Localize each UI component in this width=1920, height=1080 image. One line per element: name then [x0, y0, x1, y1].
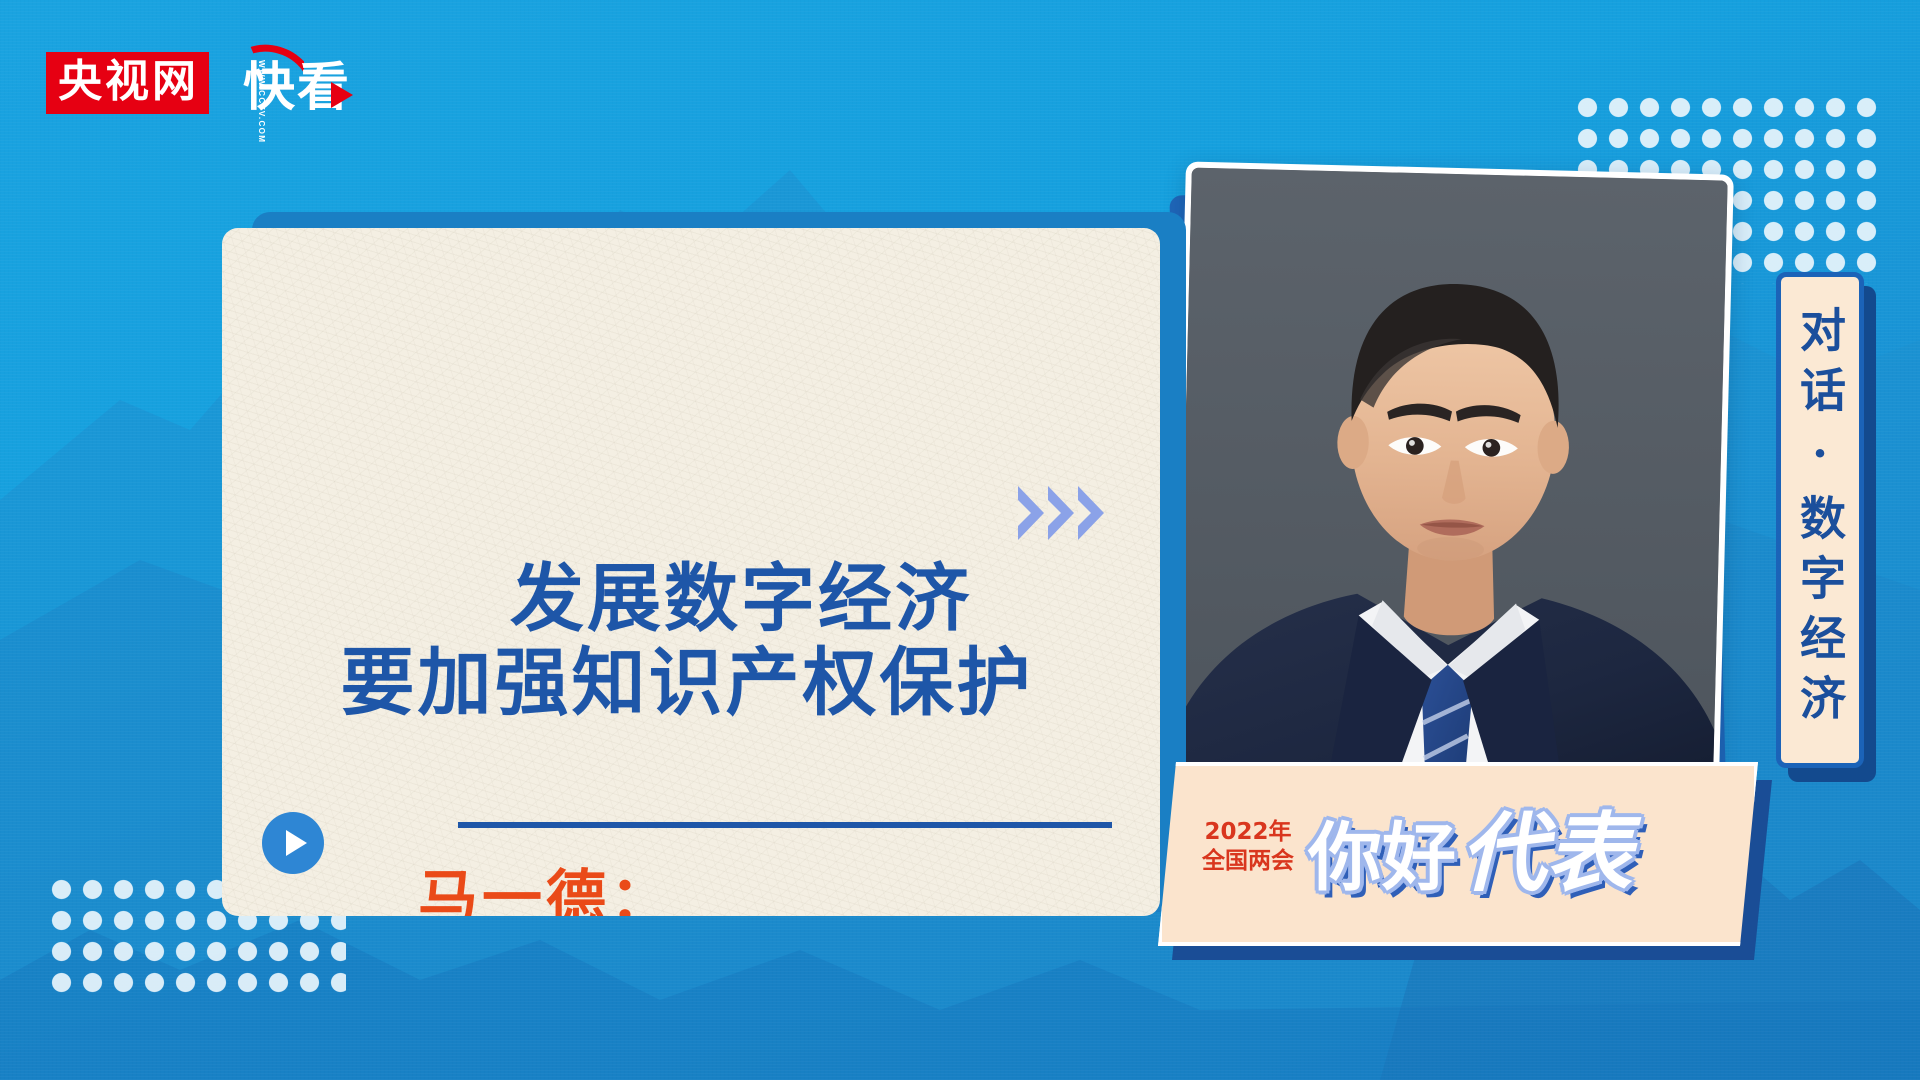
badge-event: 全国两会: [1202, 847, 1294, 876]
portrait-photo: [1176, 168, 1727, 817]
cctv-logo[interactable]: 央视网 WWW.CCTV.COM 快看: [46, 28, 351, 114]
headline: 发展数字经济 要加强知识产权保护: [222, 558, 1160, 725]
vertical-label: 对话·数字经济: [1776, 272, 1864, 768]
poster-canvas: 央视网 WWW.CCTV.COM 快看: [0, 0, 1920, 1080]
speaker-name: 马一德：: [222, 850, 1160, 916]
cctv-logo-text: 央视网: [58, 60, 199, 104]
cctv-logo-box: 央视网: [46, 52, 209, 114]
headline-divider: [458, 822, 1112, 828]
badge-title: 你好代表: [1308, 783, 1632, 926]
play-circle-icon[interactable]: [262, 812, 324, 874]
badge-event-info: 2022年 全国两会: [1202, 818, 1294, 891]
badge-title-part1: 你好: [1308, 815, 1456, 901]
portrait-frame: [1170, 161, 1734, 822]
double-chevron-right-icon: [1018, 486, 1104, 540]
kuaikan-wordmark: 快看: [243, 62, 351, 114]
badge-title-part2: 代表: [1460, 804, 1632, 904]
headline-card: 发展数字经济 要加强知识产权保护 马一德： 将进一步加强数据产权保护: [222, 228, 1160, 916]
badge-bubble: 2022年 全国两会 你好代表: [1158, 762, 1758, 946]
headline-line-1: 发展数字经济: [222, 558, 1152, 642]
headline-line-2: 要加强知识产权保护: [222, 642, 1152, 726]
badge-year: 2022年: [1202, 818, 1294, 847]
program-badge: 2022年 全国两会 你好代表: [1150, 756, 1830, 1016]
play-triangle-icon: [331, 82, 353, 108]
vertical-label-text: 对话·数字经济: [1797, 306, 1843, 734]
